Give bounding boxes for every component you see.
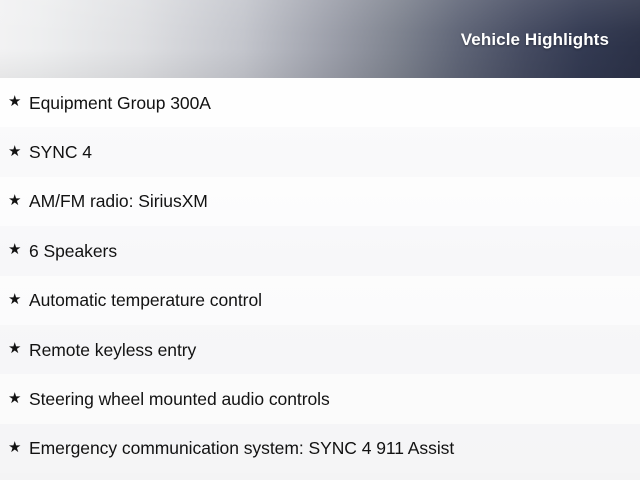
list-item: ★ 6 Speakers [0, 226, 640, 275]
page-title: Vehicle Highlights [461, 30, 609, 50]
vehicle-highlights-page: Vehicle Highlights ★ Equipment Group 300… [0, 0, 640, 480]
star-icon: ★ [8, 193, 29, 208]
star-icon: ★ [8, 292, 29, 307]
star-icon: ★ [8, 341, 29, 356]
star-icon: ★ [8, 242, 29, 257]
list-item-label: Emergency communication system: SYNC 4 9… [29, 438, 640, 458]
list-item: ★ Remote keyless entry [0, 325, 640, 374]
star-icon: ★ [8, 144, 29, 159]
list-item-label: Automatic temperature control [29, 290, 640, 310]
list-item: ★ SYNC 4 [0, 127, 640, 176]
list-item: ★ Emergency communication system: SYNC 4… [0, 424, 640, 473]
list-item-label: Equipment Group 300A [29, 93, 640, 113]
list-item: ★ AM/FM radio: SiriusXM [0, 177, 640, 226]
star-icon: ★ [8, 440, 29, 455]
list-item: ★ Automatic temperature control [0, 276, 640, 325]
star-icon: ★ [8, 391, 29, 406]
page-header-banner: Vehicle Highlights [0, 0, 640, 78]
list-item: ★ Steering wheel mounted audio controls [0, 374, 640, 423]
list-item-label: SYNC 4 [29, 142, 640, 162]
list-item-label: AM/FM radio: SiriusXM [29, 191, 640, 211]
list-item-label: Remote keyless entry [29, 340, 640, 360]
list-item: ★ Equipment Group 300A [0, 78, 640, 127]
list-item-label: Steering wheel mounted audio controls [29, 389, 640, 409]
star-icon: ★ [8, 94, 29, 109]
vehicle-highlights-list: ★ Equipment Group 300A ★ SYNC 4 ★ AM/FM … [0, 78, 640, 473]
list-item-label: 6 Speakers [29, 241, 640, 261]
